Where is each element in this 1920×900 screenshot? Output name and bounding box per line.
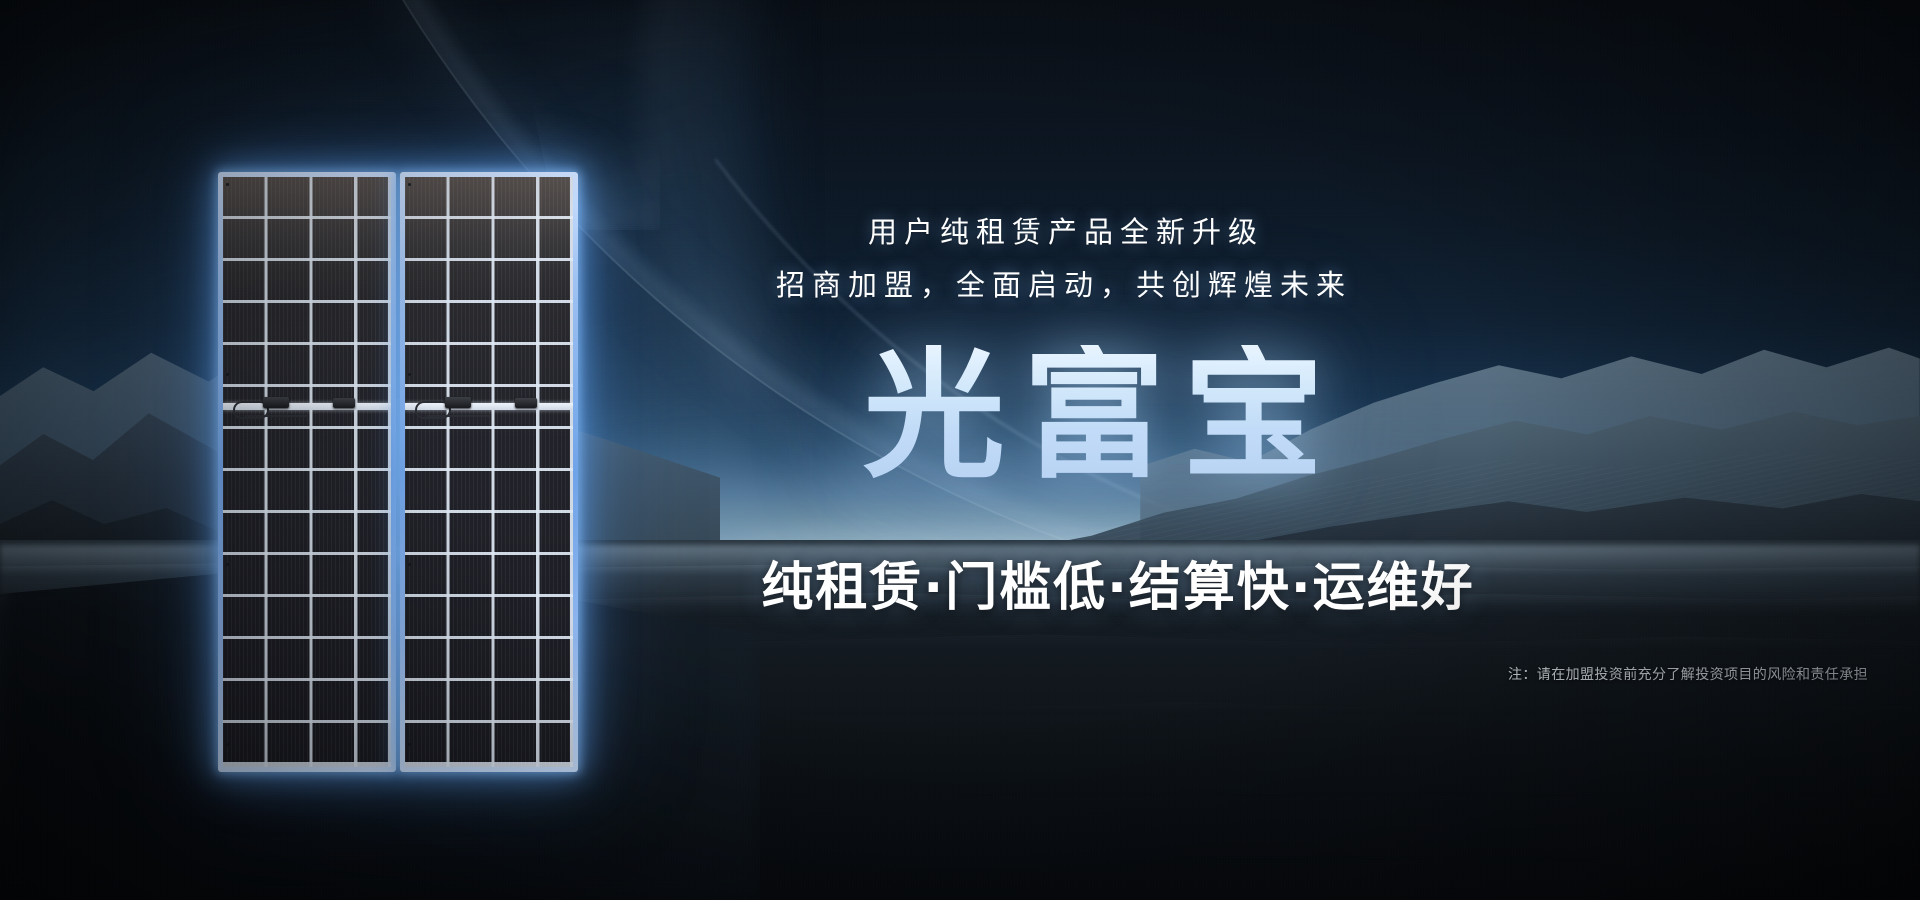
solar-panel-left [218,172,396,772]
headline-line-2: 招商加盟，全面启动，共创辉煌未来 [768,262,1360,304]
frame-screw [226,373,229,376]
tagline: 纯租赁·门槛低·结算快·运维好 [700,545,1536,620]
frame-screw [408,373,411,376]
frame-screw [226,183,229,186]
solar-cable-line-icon [245,415,307,417]
panel-bottom-rail [223,767,391,772]
junction-box-left [263,397,289,408]
solar-promo-banner: 用户纯租赁产品全新升级 招商加盟，全面启动，共创辉煌未来 光富宝 纯租赁·门槛低… [0,0,1920,900]
solar-cell-top-sheen [405,177,573,297]
frame-screw [226,743,229,746]
panel-bottom-rail [405,767,573,772]
frame-screw [408,563,411,566]
solar-cable-line-icon [427,415,489,417]
junction-box-left [445,397,471,408]
brand-title: 光富宝 [845,345,1315,487]
frame-screw [226,563,229,566]
headline-line-1: 用户纯租赁产品全新升级 [856,209,1276,251]
frame-screw [408,183,411,186]
junction-box-right [515,398,537,408]
disclaimer-note: 注：请在加盟投资前充分了解投资项目的风险和责任承担 [1508,664,1868,684]
frame-screw [408,743,411,746]
solar-cell-top-sheen [223,177,391,297]
junction-box-right [333,398,355,408]
solar-panel-group [218,172,578,772]
solar-panel-right [400,172,578,772]
